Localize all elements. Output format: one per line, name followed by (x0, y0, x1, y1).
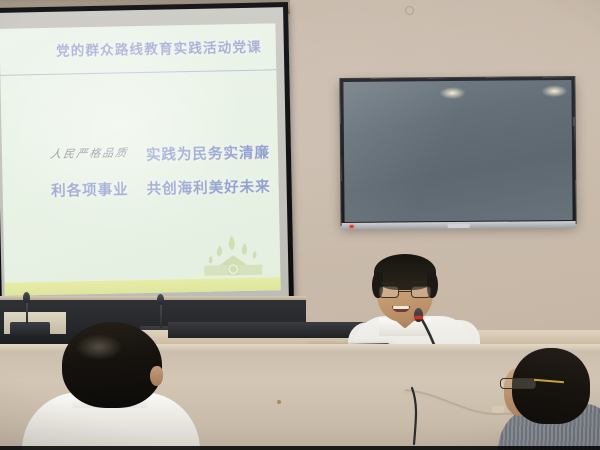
presenter-microphone-led (414, 316, 423, 319)
calligraphy-signature: 人民严格品质 (48, 144, 129, 167)
letterbox-bottom (0, 446, 600, 450)
presentation-slide: 党的群众路线教育实践活动党课 人民严格品质 实践为民务实清廉 利各项事业 共创海… (0, 23, 281, 295)
audience-left-ear (150, 366, 163, 386)
presenter-brow-left (381, 282, 396, 284)
presenter-brow-right (412, 281, 427, 283)
tv-power-led (350, 225, 354, 228)
tv-glare-right (541, 85, 567, 97)
eyeglass-lens-left (379, 286, 399, 298)
audience-left-hair-highlight (76, 334, 122, 360)
podium-screw (277, 400, 281, 404)
slide-divider (0, 69, 276, 76)
microphone-base-left (10, 322, 50, 338)
projection-screen: 党的群众路线教育实践活动党课 人民严格品质 实践为民务实清廉 利各项事业 共创海… (0, 2, 294, 322)
slide-line-1-right: 实践为民务实清廉 (146, 141, 270, 164)
microphone-stem-left (26, 300, 28, 324)
microphone-head-left (23, 292, 30, 303)
wall-mark (405, 6, 414, 15)
microphone-stem-center (160, 302, 162, 328)
eyeglass-bridge (399, 291, 411, 292)
screen-mat: 党的群众路线教育实践活动党课 人民严格品质 实践为民务实清廉 利各项事业 共创海… (0, 7, 289, 316)
tv-side-button[interactable] (573, 117, 576, 126)
eco-leaf-house-icon (198, 231, 269, 278)
slide-line-2-left: 利各项事业 (51, 178, 129, 201)
tv-screen (343, 80, 572, 222)
audience-left-head (62, 322, 162, 408)
wall-mounted-tv[interactable] (340, 77, 575, 225)
audience-right-eyeglasses-icon (500, 378, 536, 389)
slide-accent-band (5, 277, 281, 296)
slide-title: 党的群众路线教育实践活动党课 (0, 36, 262, 61)
microphone-head-center (157, 294, 164, 305)
tv-brand-logo (448, 224, 470, 228)
conference-room-photo: 党的群众路线教育实践活动党课 人民严格品质 实践为民务实清廉 利各项事业 共创海… (0, 0, 600, 450)
slide-body: 人民严格品质 实践为民务实清廉 利各项事业 共创海利美好未来 (2, 141, 271, 214)
slide-line-1: 人民严格品质 实践为民务实清廉 (2, 141, 270, 167)
slide-line-2-right: 共创海利美好未来 (146, 175, 270, 198)
tv-glare-left (439, 87, 465, 99)
presenter-microphone-head (414, 308, 423, 322)
slide-line-2: 利各项事业 共创海利美好未来 (2, 175, 270, 201)
